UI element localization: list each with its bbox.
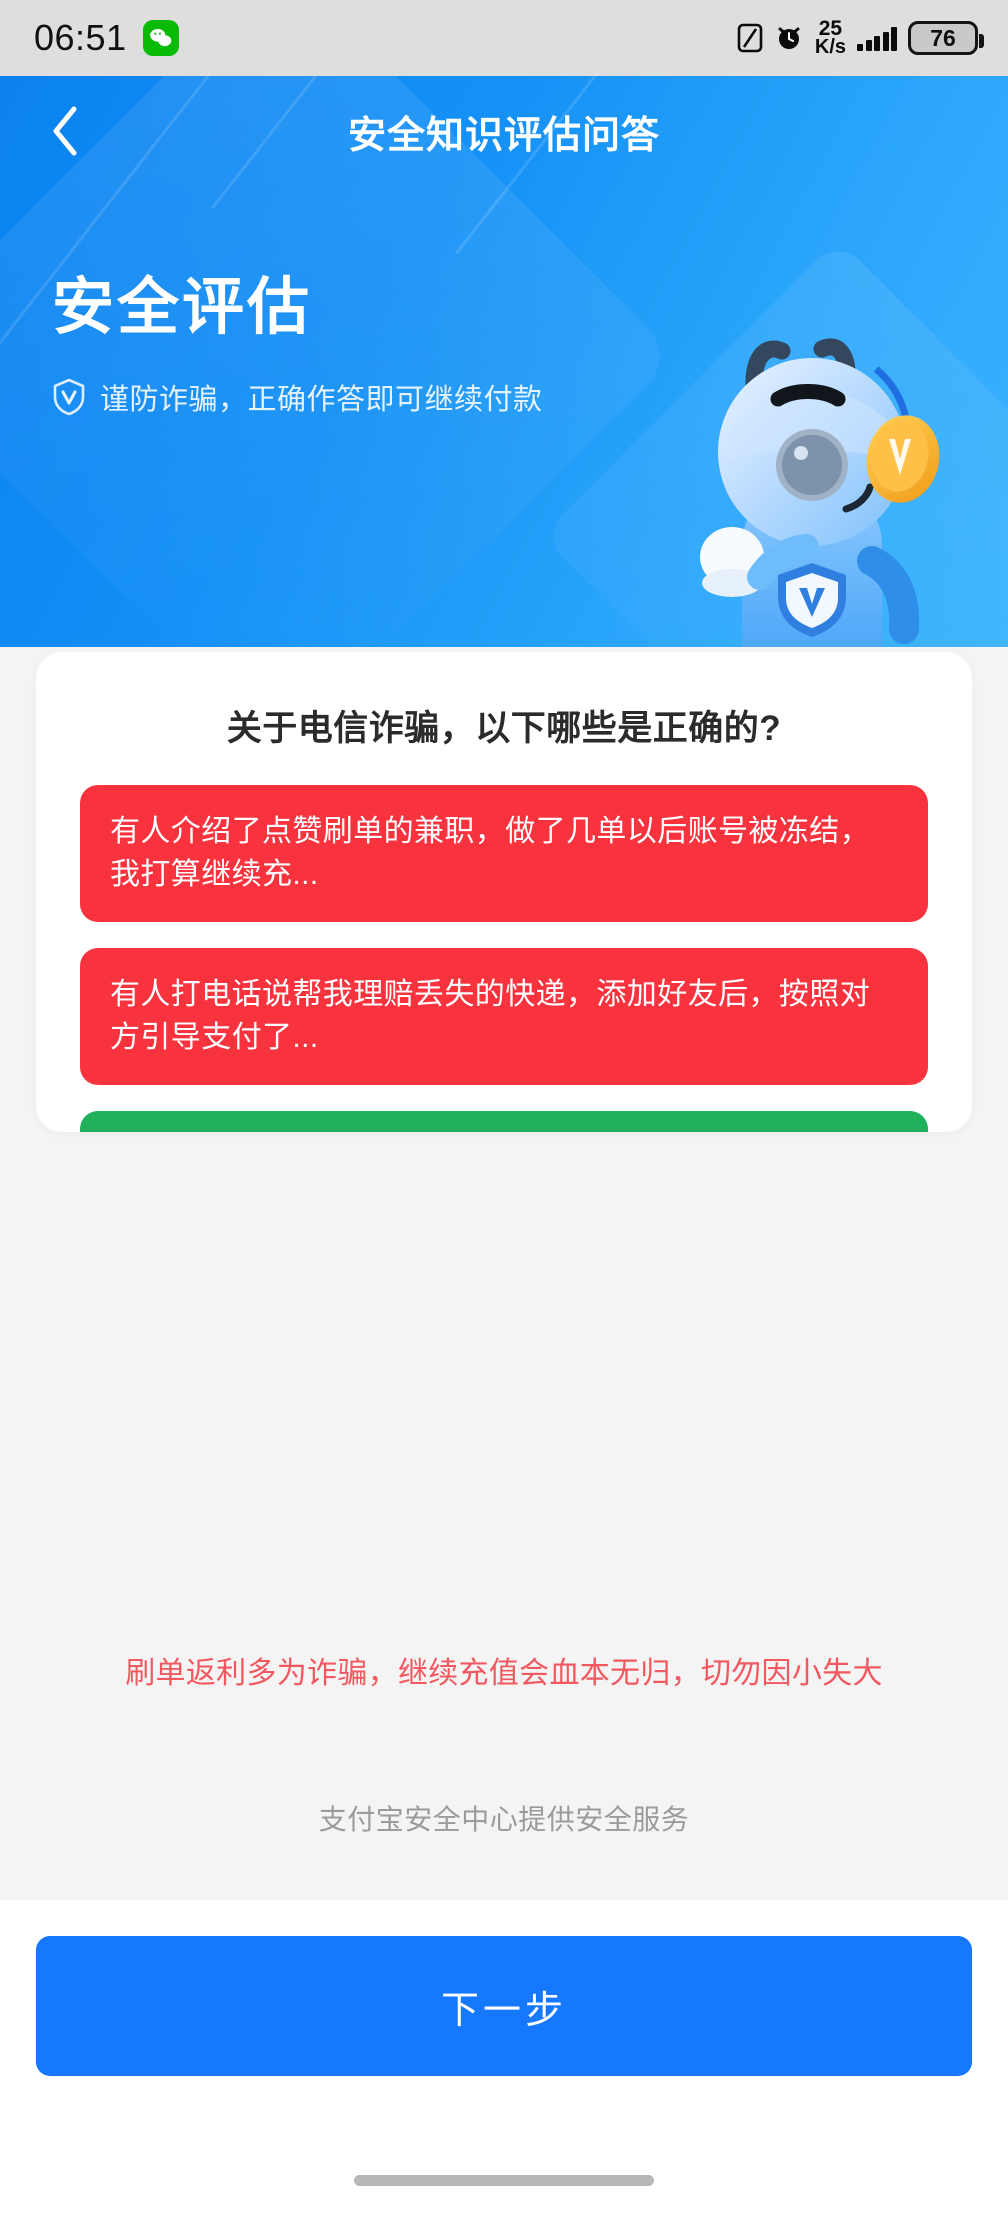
netspeed-unit: K/s — [815, 38, 846, 57]
option-item[interactable]: 培训学校的老师通过社交软件让我给孩子交培训费，我打了培训学校的... — [80, 1111, 928, 1132]
back-chevron-icon — [48, 103, 82, 159]
footnote-text: 支付宝安全中心提供安全服务 — [0, 1798, 1008, 1838]
netspeed-value: 25 — [819, 19, 842, 39]
question-card: 关于电信诈骗，以下哪些是正确的? 有人介绍了点赞刷单的兼职，做了几单以后账号被冻… — [36, 652, 972, 1132]
warning-text: 刷单返利多为诈骗，继续充值会血本无归，切勿因小失大 — [0, 1648, 1008, 1692]
nfc-icon — [737, 23, 763, 53]
status-time: 06:51 — [34, 17, 127, 59]
question-title: 关于电信诈骗，以下哪些是正确的? — [36, 652, 972, 751]
hero-title: 安全评估 — [52, 274, 1008, 342]
battery-level: 76 — [930, 25, 956, 52]
back-button[interactable] — [34, 100, 96, 162]
wechat-icon — [143, 20, 179, 56]
bottom-bar: 下一步 — [0, 1900, 1008, 2232]
battery-icon: 76 — [908, 21, 978, 55]
options-list: 有人介绍了点赞刷单的兼职，做了几单以后账号被冻结，我打算继续充... 有人打电话… — [36, 751, 972, 1132]
network-speed: 25 K/s — [815, 19, 846, 58]
option-item[interactable]: 有人打电话说帮我理赔丢失的快递，添加好友后，按照对方引导支付了... — [80, 948, 928, 1085]
home-indicator[interactable] — [354, 2175, 654, 2186]
status-bar: 06:51 25 K/s 76 — [0, 0, 1008, 76]
navigation-bar: 安全知识评估问答 — [0, 76, 1008, 186]
shield-icon — [52, 378, 86, 416]
hero-text-block: 安全评估 谨防诈骗，正确作答即可继续付款 — [0, 186, 1008, 418]
alarm-icon — [774, 23, 804, 53]
option-item[interactable]: 有人介绍了点赞刷单的兼职，做了几单以后账号被冻结，我打算继续充... — [80, 785, 928, 922]
status-bar-left: 06:51 — [34, 17, 179, 59]
hero-subtitle: 谨防诈骗，正确作答即可继续付款 — [100, 376, 543, 418]
hero-banner: 安全知识评估问答 安全评估 谨防诈骗，正确作答即可继续付款 — [0, 76, 1008, 647]
hero-subtitle-row: 谨防诈骗，正确作答即可继续付款 — [52, 376, 1008, 418]
status-bar-right: 25 K/s 76 — [737, 0, 978, 76]
page-title: 安全知识评估问答 — [0, 104, 1008, 159]
signal-bars-icon — [857, 25, 897, 51]
next-step-button[interactable]: 下一步 — [36, 1936, 972, 2076]
